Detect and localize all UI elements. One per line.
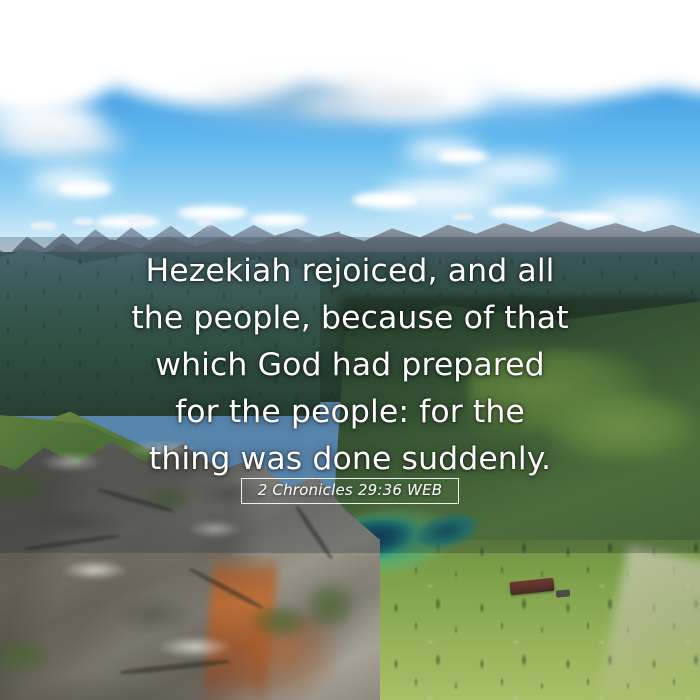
rock-highlight: [188, 520, 242, 538]
cloud-puff: [466, 160, 562, 182]
snow-patch: [624, 216, 646, 222]
snow-patch: [126, 216, 150, 223]
snow-patch: [30, 222, 56, 230]
cloud-puff: [0, 128, 124, 154]
rock-highlight: [62, 560, 128, 580]
mountain-hut-outbuilding: [556, 589, 571, 597]
rock-moss: [252, 606, 308, 636]
rock-moss: [0, 640, 50, 674]
verse-reference-badge: 2 Chronicles 29:36 WEB: [241, 478, 460, 504]
snow-patch: [74, 218, 94, 225]
rock-moss: [306, 582, 354, 628]
cloud-puff: [438, 150, 488, 163]
cloud-puff: [300, 92, 450, 116]
verse-text: Hezekiah rejoiced, and all the people, b…: [0, 248, 700, 483]
rock-highlight: [158, 636, 232, 658]
snow-patch: [196, 220, 214, 226]
cloud-puff: [58, 182, 112, 196]
reference-container: 2 Chronicles 29:36 WEB: [0, 478, 700, 504]
snow-patch: [452, 214, 474, 220]
verse-image-card: Hezekiah rejoiced, and all the people, b…: [0, 0, 700, 700]
snow-patch: [546, 212, 572, 218]
